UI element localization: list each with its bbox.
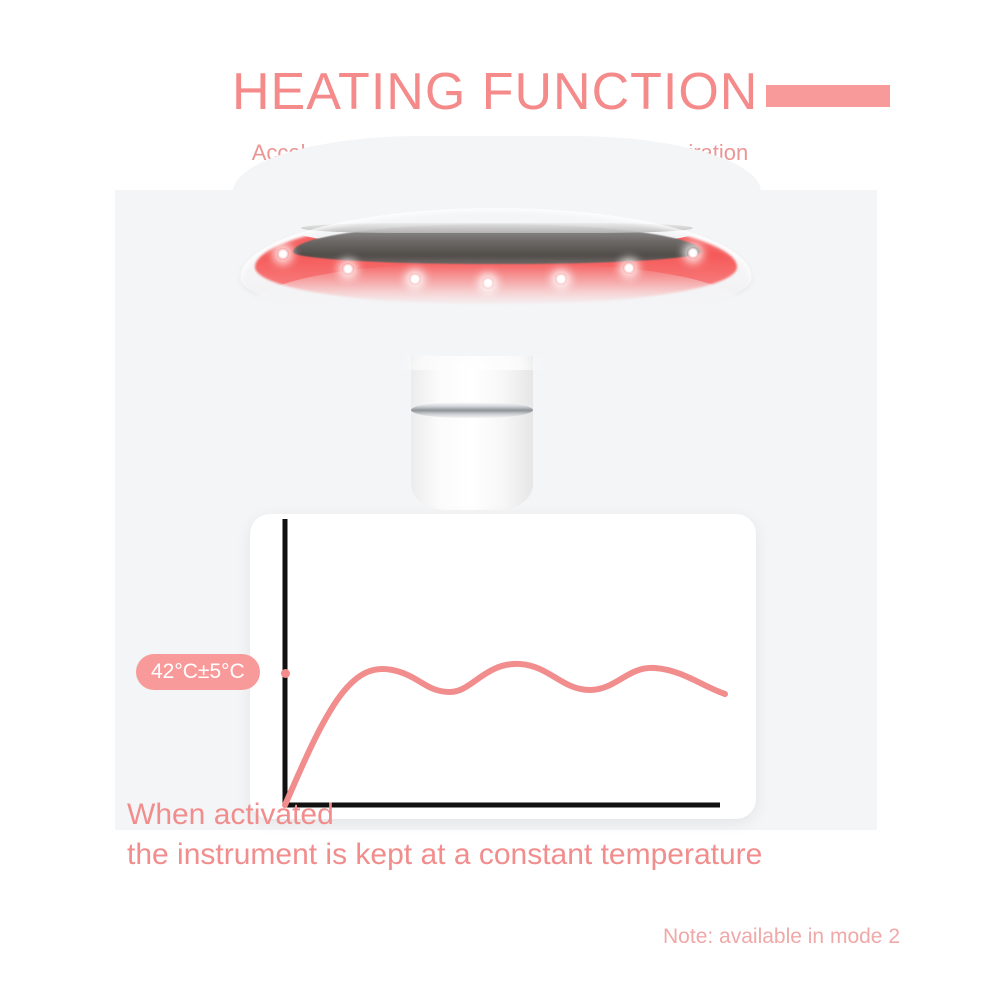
- subtitle: Accelerate blood circulation and cellula…: [0, 140, 1000, 192]
- subtitle-line-1: Accelerate blood circulation and cellula…: [0, 140, 1000, 166]
- page-title: HEATING FUNCTION: [232, 64, 758, 120]
- caption-line-1: When activated: [127, 798, 334, 832]
- poster-canvas: HEATING FUNCTION Accelerate blood circul…: [0, 0, 1000, 1000]
- target-temperature-badge: 42°C±5°C: [136, 654, 260, 690]
- caption-line-2: the instrument is kept at a constant tem…: [127, 838, 762, 872]
- subtitle-line-2: promote the effect of skin care products: [0, 166, 1000, 192]
- footnote: Note: available in mode 2: [0, 925, 900, 949]
- temperature-curve: [285, 664, 725, 805]
- temperature-chart: [250, 514, 756, 819]
- target-temperature-marker: [281, 669, 290, 678]
- title-accent-bar: [766, 85, 890, 107]
